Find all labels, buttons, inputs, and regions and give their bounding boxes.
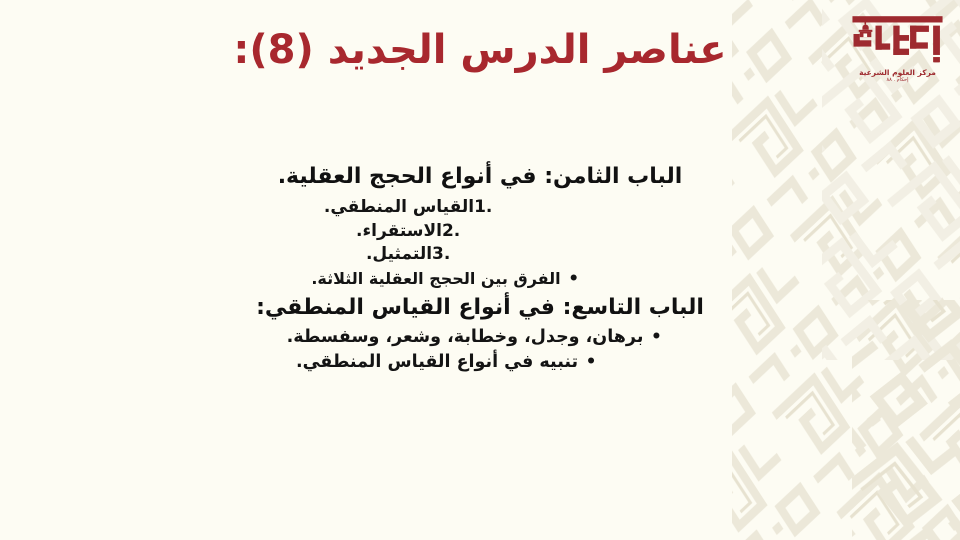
- section-heading-nine: الباب التاسع: في أنواع القياس المنطقي:: [0, 294, 960, 322]
- list-item: • برهان، وجدل، وخطابة، وشعر، وسفسطة.: [0, 325, 960, 350]
- logo-kufic-svg: [845, 12, 950, 67]
- list-item-label: التمثيل.: [366, 243, 432, 266]
- logo-subtitle: مركز العلوم الشرعية: [845, 68, 950, 77]
- logo-subtitle-small: إحكام . ٨٨: [845, 77, 950, 83]
- list-marker: 2.: [442, 220, 476, 243]
- section-heading-eight: الباب الثامن: في أنواع الحجج العقلية.: [0, 163, 960, 191]
- list-item: • الفرق بين الحجج العقلية الثلاثة.: [0, 267, 960, 291]
- list-marker: 3.: [432, 243, 466, 266]
- content-body: الباب الثامن: في أنواع الحجج العقلية. 1.…: [0, 163, 960, 376]
- bullet-marker: •: [561, 267, 587, 291]
- bullet-marker: •: [578, 350, 604, 375]
- list-item: 3. التمثيل.: [0, 243, 960, 266]
- list-item: 2. الاستقراء.: [0, 220, 960, 243]
- page-title: عناصر الدرس الجديد (8):: [233, 27, 726, 73]
- logo-wordmark-graphic: [845, 12, 950, 67]
- list-item-label: الفرق بين الحجج العقلية الثلاثة.: [311, 268, 560, 291]
- title-bar: عناصر الدرس الجديد (8):: [0, 14, 960, 86]
- bullet-marker: •: [643, 325, 669, 350]
- list-marker: 1.: [474, 196, 508, 219]
- list-item: 1. القياس المنطقي.: [0, 196, 960, 219]
- list-item-label: الاستقراء.: [356, 220, 442, 243]
- list-item: • تنبيه في أنواع القياس المنطقي.: [0, 350, 960, 375]
- list-item-label: القياس المنطقي.: [324, 196, 474, 219]
- slide-canvas: عناصر الدرس الجديد (8):: [0, 0, 960, 540]
- list-item-label: تنبيه في أنواع القياس المنطقي.: [296, 350, 578, 375]
- list-item-label: برهان، وجدل، وخطابة، وشعر، وسفسطة.: [287, 325, 644, 350]
- brand-logo: مركز العلوم الشرعية إحكام . ٨٨: [845, 12, 950, 97]
